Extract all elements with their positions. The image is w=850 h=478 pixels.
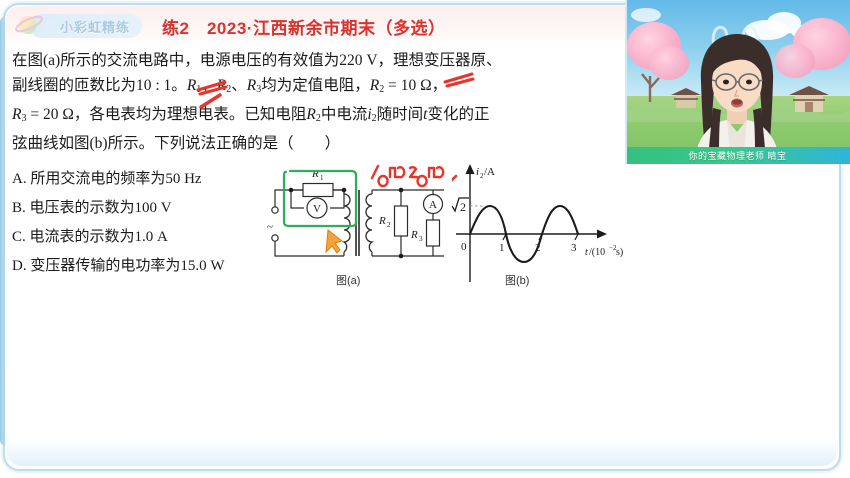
q2-g: 均为定值电阻， xyxy=(261,77,370,94)
figa-label-source: ~ xyxy=(267,221,273,233)
svg-text:t: t xyxy=(585,247,588,258)
figa-label-ammeter: A xyxy=(429,199,437,211)
orange-cursor-icon xyxy=(326,230,342,253)
svg-text:s): s) xyxy=(616,247,623,258)
question-line-4: 弦曲线如图(b)所示。下列说法正确的是（ ） xyxy=(12,131,632,156)
teacher-video-panel[interactable]: 你的宝藏物理老师 睛宝 xyxy=(625,0,850,164)
teacher-name-banner: 你的宝藏物理老师 睛宝 xyxy=(625,147,850,164)
question-line-2: 副线圈的匝数比为10 : 1。R1、R2、R3均为定值电阻，R2 = 10 Ω， xyxy=(12,73,632,102)
svg-text:/(10: /(10 xyxy=(589,247,605,258)
q3-r2: R xyxy=(306,106,315,123)
brand-logo-label: 小彩虹精练 xyxy=(60,17,130,36)
chart-xlabel: t /(10 −2 s) xyxy=(585,244,623,258)
question-line-3: R3 = 20 Ω，各电表均为理想电表。已知电阻R2中电流i2随时间t变化的正 xyxy=(12,102,632,131)
x-axis-arrow xyxy=(597,230,607,239)
screen-root: 小彩虹精练 练2 2023·江西新余市期末（多选） 睛宝物理 考神附体 在图(a… xyxy=(0,0,850,478)
chart-ylabel: i 2 /A xyxy=(476,166,495,180)
question-text: 在图(a)所示的交流电路中，电源电压的有效值为220 V，理想变压器原、 副线圈… xyxy=(12,48,632,156)
q3-b: = 20 Ω，各电表均为理想电表。已知电阻 xyxy=(26,106,306,123)
figa-label-r1-sub: 1 xyxy=(320,174,324,182)
chart-xtick-3: 3 xyxy=(571,242,577,254)
q2-r2: R xyxy=(217,77,226,94)
planet-icon xyxy=(14,10,46,42)
figa-label-r1: R xyxy=(311,168,319,180)
svg-text:2: 2 xyxy=(460,200,466,214)
q2-r3: R xyxy=(247,77,256,94)
q3-d: 中电流 xyxy=(321,106,368,123)
figa-label-voltmeter: V xyxy=(313,203,321,215)
q2-r1: R xyxy=(187,77,196,94)
q3-f: 随时间 xyxy=(377,106,424,123)
q3-h: 变化的正 xyxy=(427,106,489,123)
page-title: 练2 2023·江西新余市期末（多选） xyxy=(162,14,445,39)
cloud-icon xyxy=(631,8,661,22)
brand-logo: 小彩虹精练 xyxy=(30,14,142,38)
figure-b-caption: 图(b) xyxy=(505,272,529,288)
figure-a-caption: 图(a) xyxy=(336,272,360,288)
figure-b-chart: 0 1 2 3 i 2 /A 2 t /(10 −2 s) xyxy=(452,156,632,288)
tree-trunk-icon xyxy=(637,58,663,102)
page-left-edge xyxy=(0,16,6,446)
figa-label-r3: R xyxy=(410,229,418,241)
q2-r2b: R xyxy=(370,77,379,94)
pen-mark-tail xyxy=(452,176,456,182)
chart-xtick-2: 2 xyxy=(535,242,541,254)
q2-a: 副线圈的匝数比为10 : 1。 xyxy=(12,77,187,94)
question-line-1: 在图(a)所示的交流电路中，电源电压的有效值为220 V，理想变压器原、 xyxy=(12,48,632,73)
teacher-name-label: 你的宝藏物理老师 睛宝 xyxy=(688,149,786,162)
y-axis-arrow xyxy=(466,164,475,174)
chart-origin-label: 0 xyxy=(461,241,467,253)
chart-amplitude-label: 2 xyxy=(452,198,469,214)
figa-label-r3-sub: 3 xyxy=(419,235,423,243)
q2-e: 、 xyxy=(231,77,247,94)
figa-label-r2-sub: 2 xyxy=(387,221,391,229)
pen-annotation-10ohm xyxy=(372,166,404,186)
q2-i: = 10 Ω， xyxy=(384,77,447,94)
figure-a-circuit: R 1 V A R 2 R 3 ~ xyxy=(266,160,456,290)
svg-text:/A: /A xyxy=(484,166,495,178)
teacher-avatar xyxy=(665,18,811,164)
figa-label-r2: R xyxy=(378,215,386,227)
chart-xtick-1: 1 xyxy=(499,242,505,254)
q2-c: 、 xyxy=(201,77,217,94)
svg-text:i: i xyxy=(476,166,479,178)
pen-annotation-20ohm xyxy=(410,167,443,186)
